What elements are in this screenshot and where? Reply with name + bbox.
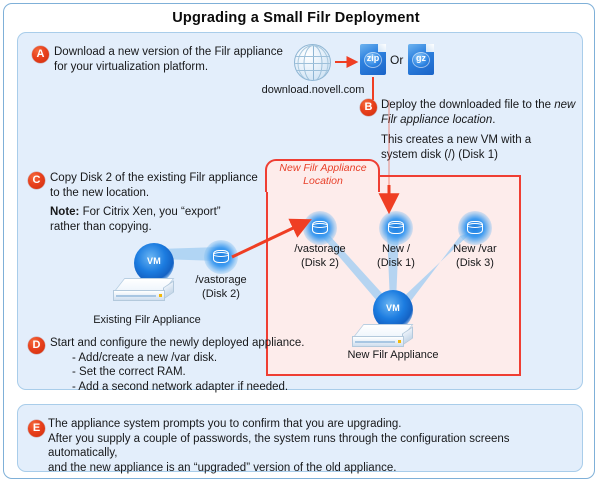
- new-disk-caption-0: /vastorage (Disk 2): [277, 243, 363, 270]
- new-location-tab-mask: [268, 188, 377, 194]
- new-disk-caption-1: New / (Disk 1): [353, 243, 439, 270]
- step-e-line1: The appliance system prompts you to conf…: [48, 418, 402, 430]
- existing-disk-name: /vastorage: [195, 274, 246, 286]
- existing-appliance-label: Existing Filr Appliance: [72, 314, 222, 328]
- step-d-text: Start and configure the newly deployed a…: [50, 336, 340, 394]
- step-c-text: Copy Disk 2 of the existing Filr applian…: [50, 171, 285, 200]
- page-title: Upgrading a Small Filr Deployment: [0, 10, 592, 26]
- new-disk-id-1: (Disk 1): [377, 257, 415, 269]
- step-e-text: The appliance system prompts you to conf…: [48, 417, 578, 475]
- new-location-label-line1: New Filr Appliance: [279, 162, 366, 174]
- new-disk-name-0: /vastorage: [294, 243, 345, 255]
- step-d-bullet3: - Add a second network adapter if needed…: [72, 380, 288, 395]
- step-b-line2-em: Filr appliance location: [381, 114, 492, 126]
- step-b-line4: system disk (/) (Disk 1): [381, 149, 498, 161]
- step-badge-c: C: [28, 172, 45, 189]
- step-c-note-line2: rather than copying.: [50, 221, 152, 233]
- new-location-label-line2: Location: [303, 175, 343, 187]
- step-d-bullet1: - Add/create a new /var disk.: [72, 351, 217, 366]
- step-b-text: Deploy the downloaded file to the new Fi…: [381, 98, 586, 127]
- existing-vm-label: VM: [134, 256, 174, 266]
- diagram-root: Upgrading a Small Filr Deployment A Down…: [0, 0, 600, 484]
- gz-file-icon: gz: [408, 44, 434, 75]
- globe-icon: [294, 44, 331, 81]
- step-d-line1: Start and configure the newly deployed a…: [50, 337, 304, 349]
- step-c-note-text: For Citrix Xen, you “export”: [79, 206, 220, 218]
- existing-vm-node: VM: [134, 243, 174, 283]
- existing-vastorage-disk-icon: [204, 240, 238, 274]
- step-c-note: Note: For Citrix Xen, you “export” rathe…: [50, 205, 285, 234]
- gz-file-label: gz: [408, 53, 434, 63]
- existing-server-icon: [113, 278, 175, 308]
- new-disk-id-0: (Disk 2): [301, 257, 339, 269]
- step-badge-e: E: [28, 420, 45, 437]
- step-c-line2: to the new location.: [50, 187, 149, 199]
- step-a-line1: Download a new version of the Filr appli…: [54, 46, 283, 58]
- step-badge-a: A: [32, 46, 49, 63]
- step-c-line1: Copy Disk 2 of the existing Filr applian…: [50, 172, 258, 184]
- step-b-line2-post: .: [492, 114, 495, 126]
- step-c-note-label: Note:: [50, 206, 79, 218]
- step-badge-d: D: [28, 337, 45, 354]
- step-e-line3: and the new appliance is an “upgraded” v…: [48, 462, 396, 474]
- step-b-result-text: This creates a new VM with a system disk…: [381, 133, 586, 162]
- step-b-line1-em: new: [554, 99, 575, 111]
- new-location-label: New Filr Appliance Location: [268, 162, 378, 188]
- step-b-line3: This creates a new VM with a: [381, 134, 531, 146]
- step-e-line2: After you supply a couple of passwords, …: [48, 433, 510, 460]
- existing-disk-caption: /vastorage (Disk 2): [176, 274, 266, 301]
- new-disk-name-1: New /: [382, 243, 410, 255]
- new-appliance-label: New Filr Appliance: [318, 349, 468, 363]
- step-a-line2: for your virtualization platform.: [54, 61, 208, 73]
- existing-disk-id: (Disk 2): [202, 288, 240, 300]
- new-root-disk-icon: [379, 211, 413, 245]
- new-disk-id-2: (Disk 3): [456, 257, 494, 269]
- new-disk-caption-2: New /var (Disk 3): [432, 243, 518, 270]
- globe-label: download.novell.com: [249, 84, 377, 98]
- new-vastorage-disk-icon: [303, 211, 337, 245]
- step-a-text: Download a new version of the Filr appli…: [54, 45, 304, 74]
- new-disk-name-2: New /var: [453, 243, 496, 255]
- new-vm-label: VM: [373, 303, 413, 313]
- or-label: Or: [390, 53, 403, 68]
- zip-file-icon: zip: [360, 44, 386, 75]
- zip-file-label: zip: [360, 53, 386, 63]
- new-var-disk-icon: [458, 211, 492, 245]
- step-b-line1-pre: Deploy the downloaded file to the: [381, 99, 554, 111]
- step-d-bullet2: - Set the correct RAM.: [72, 365, 186, 380]
- step-badge-b: B: [360, 99, 377, 116]
